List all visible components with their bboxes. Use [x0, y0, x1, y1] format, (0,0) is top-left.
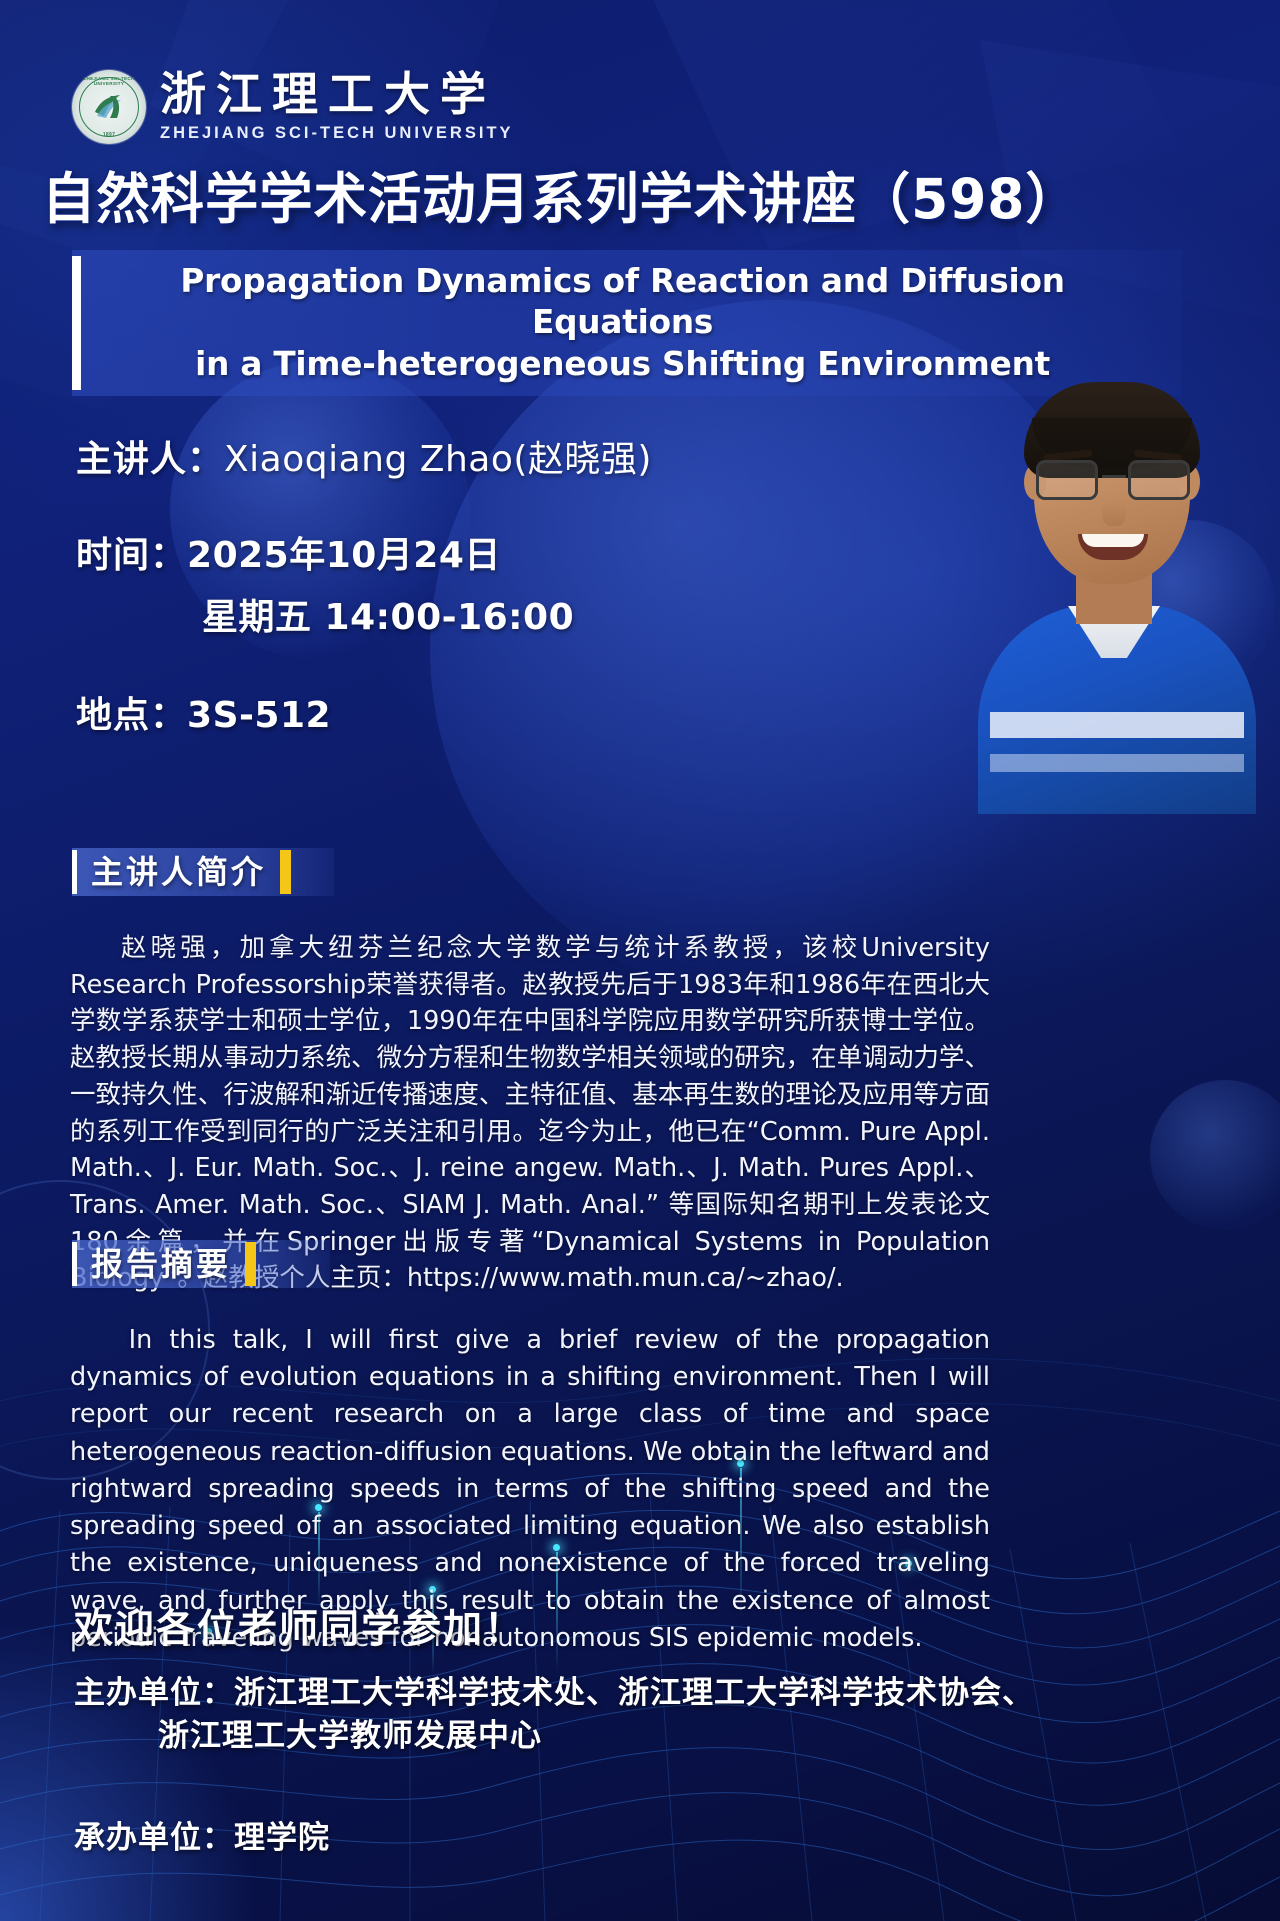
glasses-bridge [1102, 475, 1126, 478]
glasses-lens [1036, 460, 1098, 500]
bio-section-header: 主讲人简介 [72, 848, 334, 896]
talk-title-line1: Propagation Dynamics of Reaction and Dif… [94, 260, 1150, 343]
talk-details: 主讲人： Xiaoqiang Zhao(赵晓强) 时间： 2025年10月24日… [76, 424, 736, 748]
glasses-lens [1128, 460, 1190, 500]
portrait-shirt-stripe [990, 712, 1244, 738]
organizer-label: 主办单位： [74, 1675, 234, 1711]
corner-glow [0, 1621, 260, 1921]
talk-title: Propagation Dynamics of Reaction and Dif… [87, 250, 1177, 396]
time-value-second-line: 星期五 14:00-16:00 [202, 588, 736, 640]
bio-heading: 主讲人简介 [77, 848, 280, 896]
host-label: 承办单位： [74, 1820, 234, 1856]
time-label: 时间： [76, 526, 187, 578]
time-row: 时间： 2025年10月24日 [76, 526, 736, 578]
organizer-block: 主办单位：浙江理工大学科学技术处、浙江理工大学科学技术协会、 浙江理工大学教师发… [74, 1672, 1034, 1758]
seal-top-text: ZHEJIANG SCI-TECH UNIVERSITY [72, 76, 146, 86]
talk-title-band: Propagation Dynamics of Reaction and Dif… [72, 250, 1182, 396]
organizer-names: 浙江理工大学科学技术处、浙江理工大学科学技术协会、 [234, 1675, 1034, 1711]
university-name-cn: 浙江理工大学 [160, 71, 514, 117]
portrait-glasses-icon [1032, 460, 1194, 502]
talk-title-line2: in a Time-heterogeneous Shifting Environ… [94, 343, 1150, 384]
speaker-value: Xiaoqiang Zhao(赵晓强) [224, 430, 652, 482]
seal-emblem-icon [89, 87, 129, 127]
portrait-nose [1102, 500, 1126, 526]
header-right-bar [280, 850, 291, 894]
abstract-section-header: 报告摘要 [72, 1240, 330, 1288]
seal-year-text: 1897 [72, 132, 146, 138]
place-row: 地点： 3S-512 [76, 686, 736, 738]
university-logo: ZHEJIANG SCI-TECH UNIVERSITY 1897 浙江理工大学… [72, 70, 514, 144]
time-value: 2025年10月24日 [187, 526, 501, 578]
header-right-bar [245, 1242, 256, 1286]
poster-canvas: ZHEJIANG SCI-TECH UNIVERSITY 1897 浙江理工大学… [0, 0, 1280, 1921]
speaker-label: 主讲人： [76, 430, 224, 482]
organizer-line1: 主办单位：浙江理工大学科学技术处、浙江理工大学科学技术协会、 [74, 1672, 1034, 1715]
abstract-heading: 报告摘要 [77, 1240, 245, 1288]
host-block: 承办单位：理学院 [74, 1812, 330, 1857]
place-value: 3S-512 [187, 695, 331, 736]
series-title: 自然科学学术活动月系列学术讲座（598） [42, 170, 1012, 229]
host-value: 理学院 [234, 1820, 330, 1856]
portrait-shirt-stripe [990, 754, 1244, 772]
speaker-portrait [972, 382, 1262, 812]
place-label: 地点： [76, 686, 187, 738]
university-seal-icon: ZHEJIANG SCI-TECH UNIVERSITY 1897 [72, 70, 146, 144]
university-name-en: ZHEJIANG SCI-TECH UNIVERSITY [160, 124, 514, 143]
title-accent-bar [72, 256, 81, 390]
organizer-line2: 浙江理工大学教师发展中心 [158, 1715, 1034, 1758]
welcome-message: 欢迎各位老师同学参加！ [74, 1598, 525, 1654]
speaker-row: 主讲人： Xiaoqiang Zhao(赵晓强) [76, 430, 736, 482]
decorative-circle [1150, 1080, 1280, 1230]
